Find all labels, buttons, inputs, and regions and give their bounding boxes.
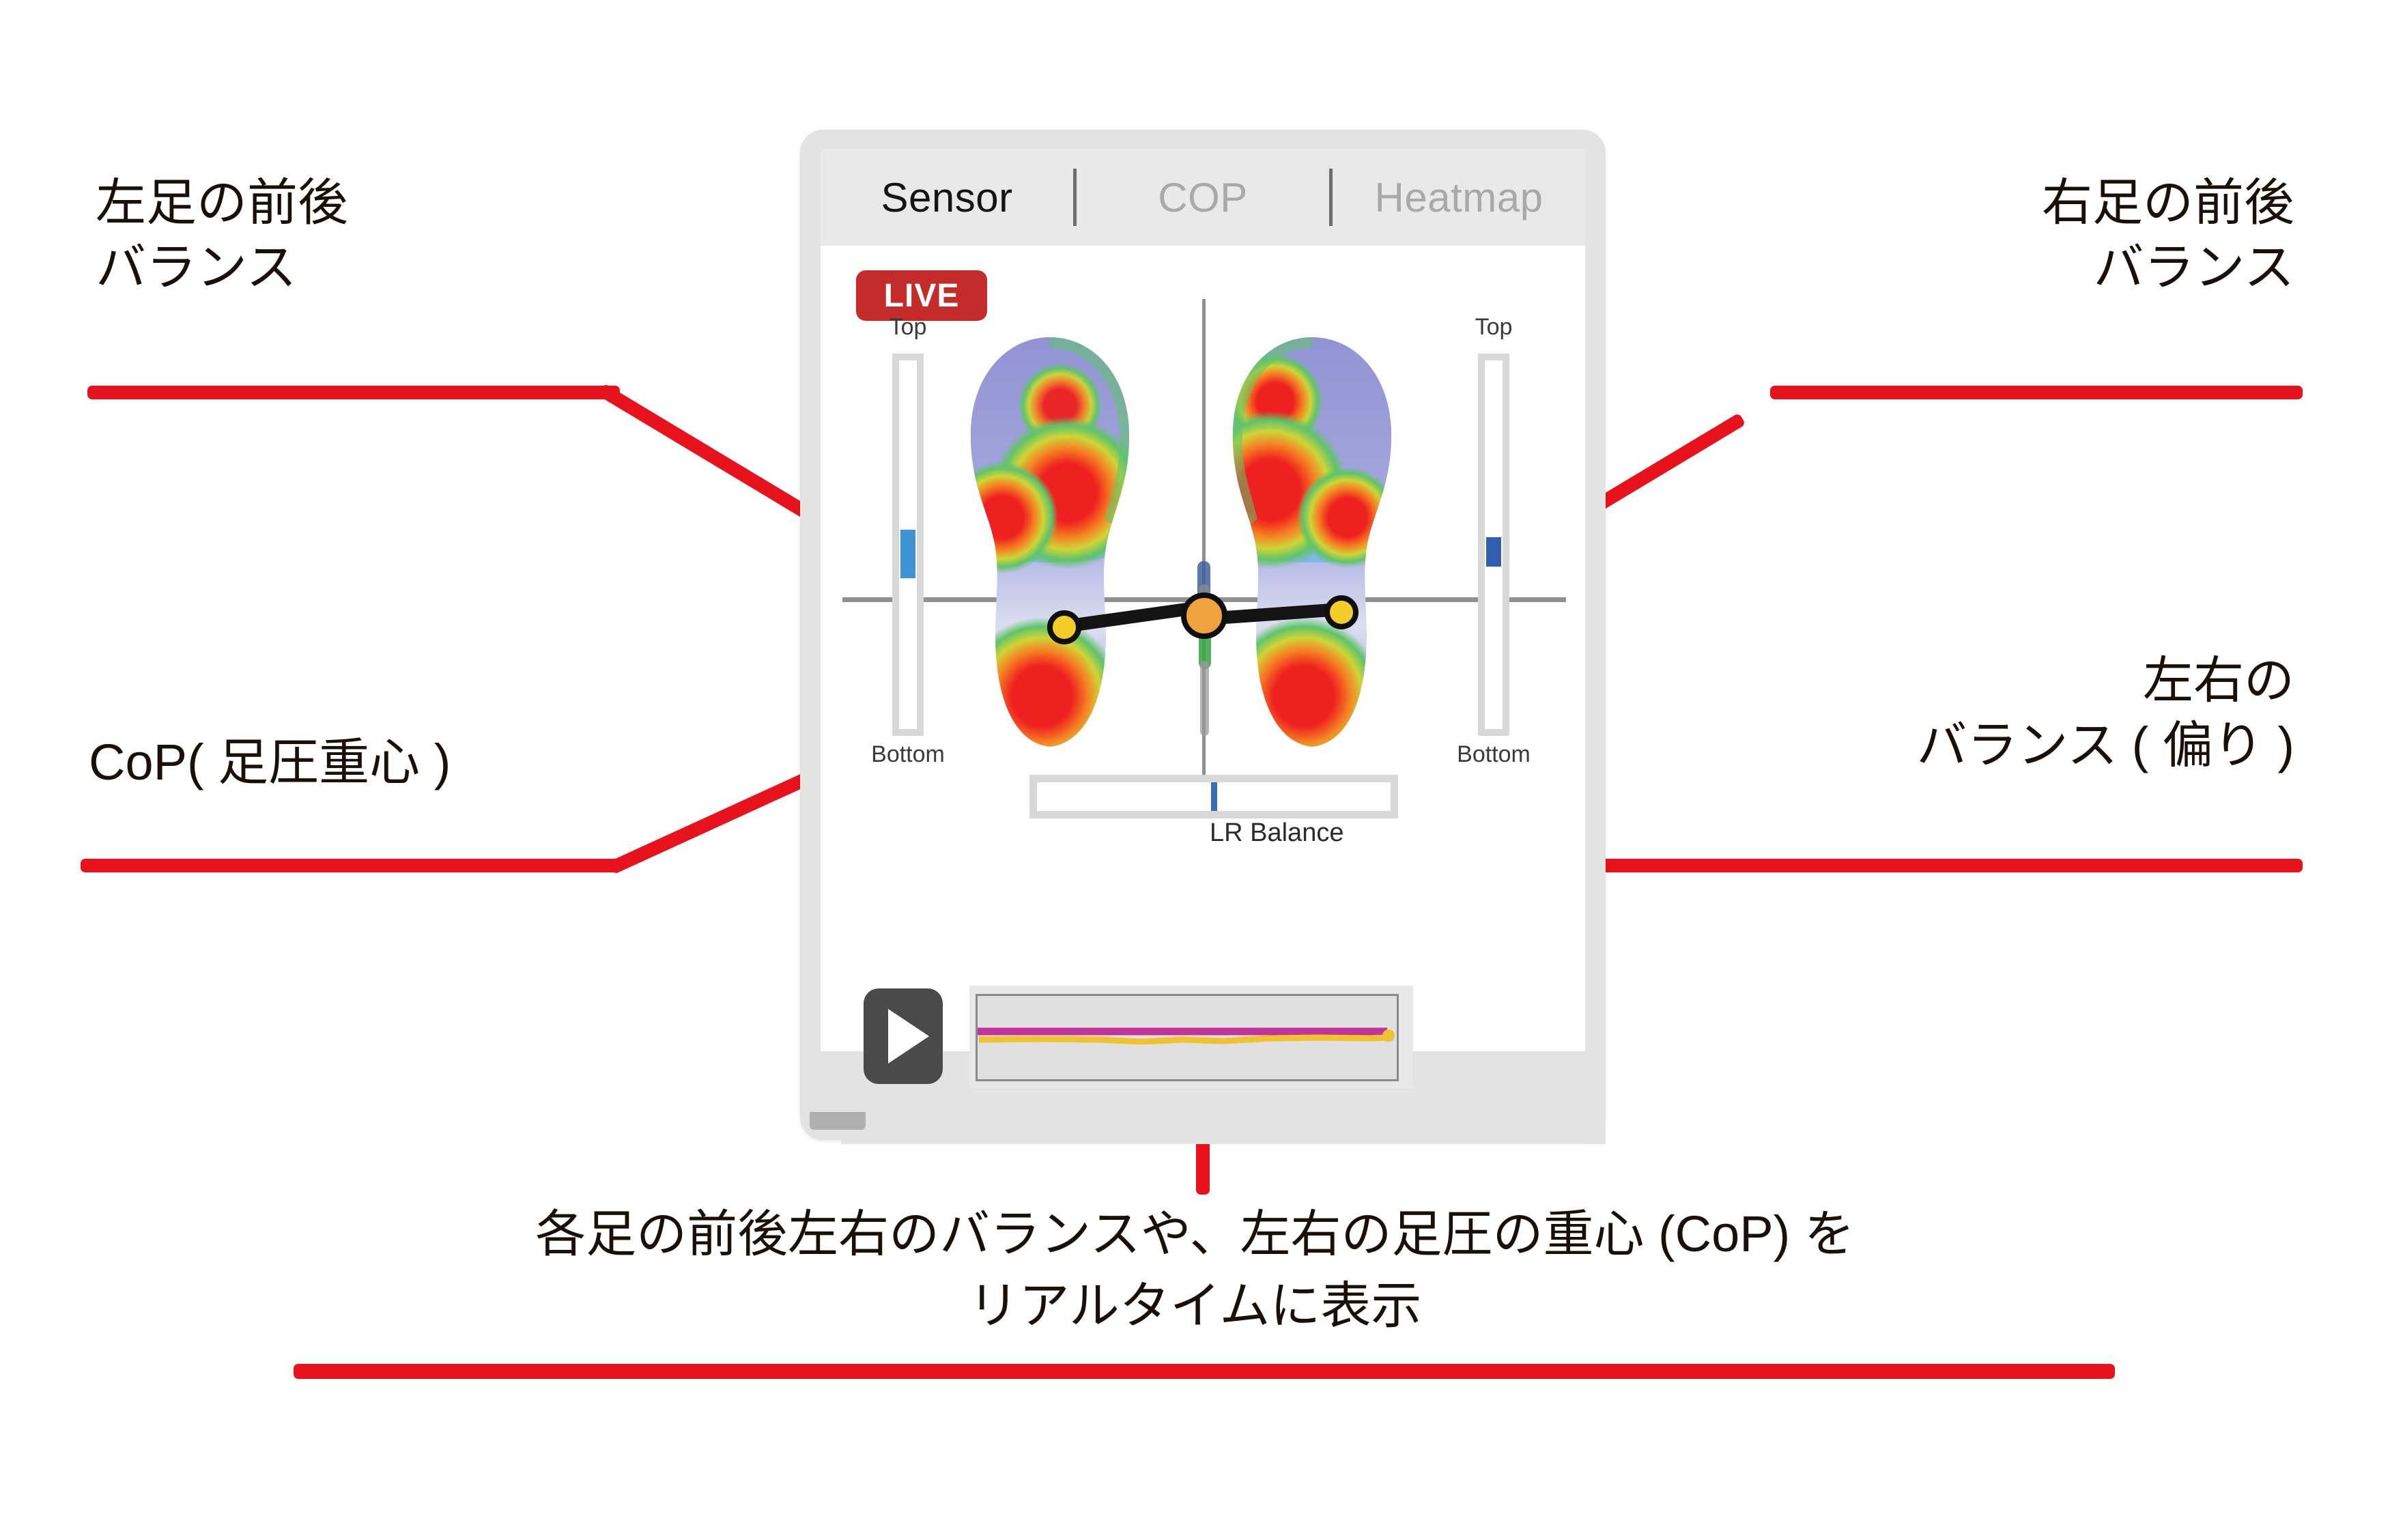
play-button[interactable] [864, 988, 943, 1084]
right-slider-top-label: Top [1425, 314, 1562, 341]
frame-bottom-tab [810, 1112, 866, 1130]
annotation-lr-balance: 左右の バランス ( 偏り ) [1917, 648, 2294, 778]
right-slider-bottom-label: Bottom [1425, 741, 1562, 768]
lr-balance-bar[interactable] [1029, 775, 1398, 818]
leader-bottom-underline [294, 1364, 2115, 1379]
right-foot-heatmap [1227, 334, 1397, 751]
annotation-right-foot-balance: 右足の前後 バランス [2042, 171, 2294, 300]
tab-heatmap[interactable]: Heatmap [1333, 174, 1585, 221]
left-foot-heatmap [965, 334, 1135, 751]
timeline-panel[interactable] [969, 986, 1413, 1088]
cop-marker-left[interactable] [1047, 610, 1081, 644]
lr-balance-marker [1211, 782, 1217, 811]
timeline-svg [978, 996, 1397, 1079]
play-icon [888, 1009, 929, 1064]
annotation-left-foot-balance: 左足の前後 バランス [96, 171, 348, 300]
timeline-chart [976, 994, 1399, 1081]
cop-trail-gray2 [1200, 661, 1209, 736]
annotation-cop: CoP( 足圧重心 ) [89, 730, 451, 795]
leader-right-top-underline [1770, 386, 2303, 399]
tab-sensor[interactable]: Sensor [821, 174, 1073, 221]
foot-pressure-panel: Top Bottom Top Bottom [821, 319, 1585, 784]
lr-balance-label: LR Balance [1210, 818, 1343, 848]
leader-left-top-underline [87, 386, 620, 399]
leader-cop-underline [81, 859, 620, 872]
live-badge: LIVE [856, 270, 987, 321]
cop-marker-right[interactable] [1324, 595, 1358, 629]
tab-bar: Sensor COP Heatmap [821, 149, 1585, 246]
left-slider-top-label: Top [840, 314, 976, 341]
left-front-back-slider[interactable] [892, 354, 924, 736]
app-screen: Sensor COP Heatmap LIVE Top Bottom Top B [821, 149, 1585, 1051]
cop-marker-center[interactable] [1181, 593, 1227, 639]
tab-cop[interactable]: COP [1077, 174, 1329, 221]
left-slider-fill [900, 530, 915, 577]
left-foot-svg [965, 334, 1135, 751]
right-foot-svg [1227, 334, 1397, 751]
right-slider-fill [1486, 537, 1501, 567]
right-front-back-slider[interactable] [1478, 354, 1509, 736]
annotation-bottom-caption: 各足の前後左右のバランスや、左右の足圧の重心 (CoP) を リアルタイムに表示 [0, 1198, 2390, 1341]
left-slider-bottom-label: Bottom [840, 741, 976, 768]
